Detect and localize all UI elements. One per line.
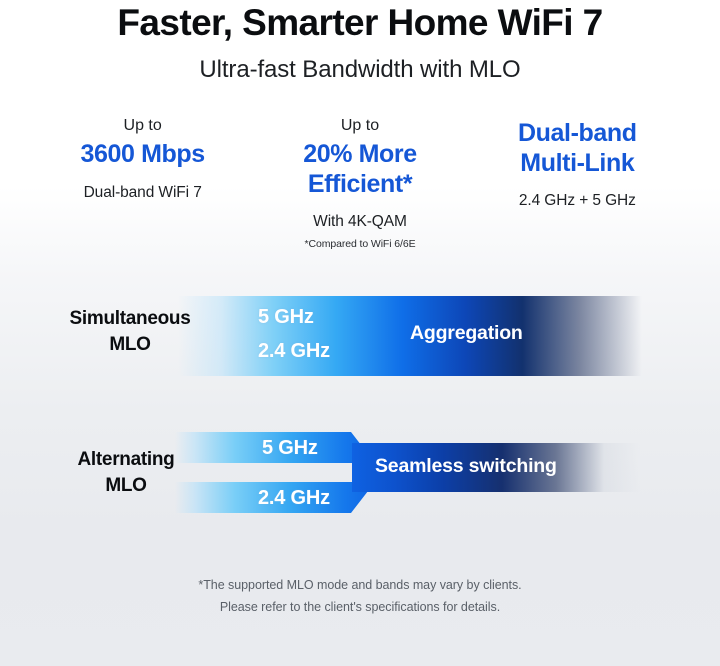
footnote-line-2: Please refer to the client's specificati… <box>0 597 720 619</box>
band-frequency-high: 5 GHz <box>262 437 318 460</box>
header: Faster, Smarter Home WiFi 7 Ultra-fast B… <box>0 0 720 84</box>
band-mode-tag: Aggregation <box>410 322 523 345</box>
stat-card-multilink: Dual-band Multi-Link 2.4 GHz + 5 GHz <box>469 116 686 250</box>
band-frequency-high: 5 GHz <box>258 306 314 329</box>
stat-prefix: Up to <box>34 116 251 137</box>
stat-prefix: Up to <box>251 116 468 137</box>
page-subtitle: Ultra-fast Bandwidth with MLO <box>0 56 720 84</box>
footnote: *The supported MLO mode and bands may va… <box>0 575 720 619</box>
stats-row: Up to 3600 Mbps Dual-band WiFi 7 Up to 2… <box>0 116 720 250</box>
page-title: Faster, Smarter Home WiFi 7 <box>0 2 720 43</box>
band-simultaneous-mlo: Simultaneous MLO 5 GHz 2.4 GHz Aggregati… <box>0 288 720 384</box>
stat-value: 3600 Mbps <box>34 140 251 170</box>
band-label: Alternating MLO <box>36 447 216 498</box>
stat-subtitle: Dual-band WiFi 7 <box>34 184 251 202</box>
band-frequency-low: 2.4 GHz <box>258 340 330 363</box>
band-alternating-mlo: Alternating MLO 5 GHz 2.4 GHz Seamless s… <box>0 425 720 521</box>
footnote-line-1: *The supported MLO mode and bands may va… <box>0 575 720 597</box>
wifi7-feature-panel: Faster, Smarter Home WiFi 7 Ultra-fast B… <box>0 0 720 666</box>
stat-value: Dual-band Multi-Link <box>469 119 686 178</box>
band-frequency-low: 2.4 GHz <box>258 487 330 510</box>
stat-subtitle: 2.4 GHz + 5 GHz <box>469 192 686 210</box>
band-label: Simultaneous MLO <box>40 306 220 357</box>
stat-value: 20% More Efficient* <box>251 140 468 199</box>
stat-note: *Compared to WiFi 6/6E <box>251 238 468 250</box>
stat-card-speed: Up to 3600 Mbps Dual-band WiFi 7 <box>34 116 251 250</box>
stat-subtitle: With 4K-QAM <box>251 213 468 231</box>
stat-card-efficiency: Up to 20% More Efficient* With 4K-QAM *C… <box>251 116 468 250</box>
band-mode-tag: Seamless switching <box>375 455 557 478</box>
